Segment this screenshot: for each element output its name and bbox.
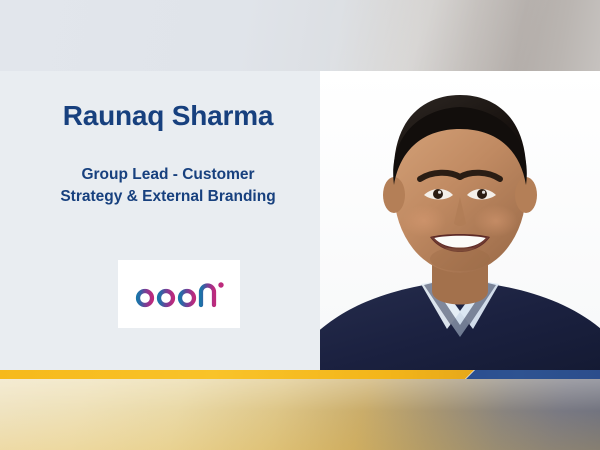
- person-role-line-2: Strategy & External Branding: [18, 186, 318, 208]
- person-name: Raunaq Sharma: [18, 101, 318, 132]
- company-logo-card: adani: [118, 260, 240, 328]
- blue-accent-bar: [466, 370, 600, 379]
- top-gradient-band: [0, 0, 600, 71]
- top-band-sheen: [330, 0, 600, 71]
- bottom-band-sheen: [0, 379, 600, 450]
- gold-accent-bar: [0, 370, 474, 379]
- person-text-block: Raunaq Sharma Group Lead - Customer Stra…: [18, 101, 318, 209]
- adani-logo-icon: [134, 277, 224, 311]
- person-role-line-1: Group Lead - Customer: [18, 164, 318, 186]
- adani-logo-dot: [218, 282, 223, 287]
- content-panel: Raunaq Sharma Group Lead - Customer Stra…: [0, 71, 600, 370]
- speaker-profile-card: Raunaq Sharma Group Lead - Customer Stra…: [0, 0, 600, 450]
- person-photo: [320, 71, 600, 370]
- person-role: Group Lead - Customer Strategy & Externa…: [18, 132, 318, 209]
